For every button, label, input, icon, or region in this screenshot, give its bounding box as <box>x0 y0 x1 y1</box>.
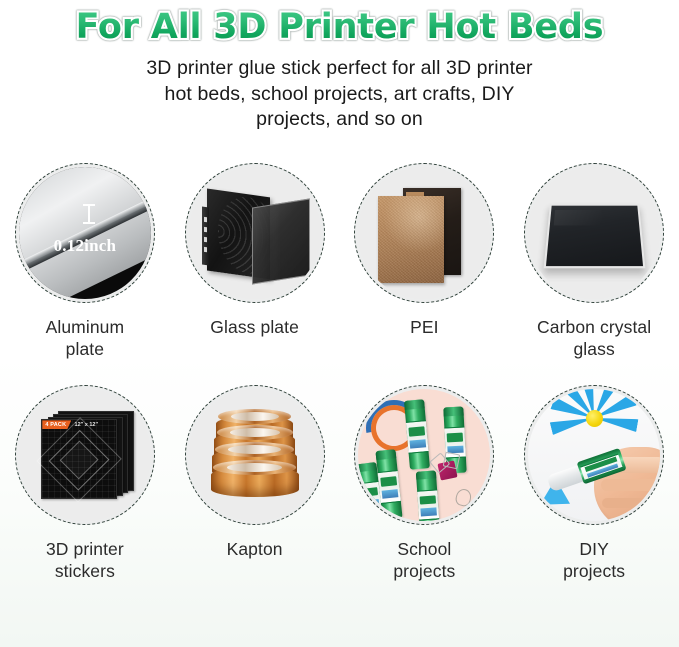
printer-stickers-photo: 4 PACK 12" x 12" <box>19 389 151 521</box>
thickness-callout-label: 0.12inch <box>54 236 117 256</box>
surface-label-kapton: Kapton <box>227 538 283 560</box>
label-line-1: Kapton <box>227 538 283 560</box>
surface-card-3d-printer-stickers: 4 PACK 12" x 12" 3D printer stickers <box>0 385 170 617</box>
aluminum-plate-circle: 0.12inch <box>15 163 155 303</box>
surface-label-3d-printer-stickers: 3D printer stickers <box>46 538 124 582</box>
kapton-circle <box>185 385 325 525</box>
sticker-size-label: 12" x 12" <box>75 422 99 428</box>
surface-label-pei: PEI <box>410 316 439 338</box>
diy-projects-photo <box>528 389 660 521</box>
label-line-1: DIY <box>563 538 625 560</box>
surface-label-carbon-crystal-glass: Carbon crystal glass <box>537 316 651 360</box>
label-line-2: plate <box>46 338 125 360</box>
surface-label-aluminum-plate: Aluminum plate <box>46 316 125 360</box>
subtitle-line-1: 3D printer glue stick perfect for all 3D… <box>60 56 620 82</box>
surfaces-row-1: 0.12inch Aluminum plate Glass plate <box>0 163 679 385</box>
subtitle-line-3: projects, and so on <box>60 107 620 133</box>
surface-card-kapton: Kapton <box>170 385 340 617</box>
diy-projects-circle <box>524 385 664 525</box>
page-subtitle: 3D printer glue stick perfect for all 3D… <box>60 56 620 133</box>
pei-copper-sheet-shape <box>378 196 444 283</box>
label-line-2: stickers <box>46 560 124 582</box>
printer-stickers-circle: 4 PACK 12" x 12" <box>15 385 155 525</box>
page-title: For All 3D Printer Hot Beds <box>76 4 604 50</box>
surface-card-diy-projects: DIY projects <box>509 385 679 617</box>
school-projects-photo <box>358 389 490 521</box>
carbon-crystal-glass-circle <box>524 163 664 303</box>
surface-label-glass-plate: Glass plate <box>210 316 299 338</box>
label-line-2: glass <box>537 338 651 360</box>
school-projects-circle <box>354 385 494 525</box>
kapton-tape-rolls-photo <box>189 389 321 521</box>
sun-center-shape <box>586 410 603 427</box>
label-line-2: projects <box>393 560 455 582</box>
surface-card-pei: PEI <box>340 163 510 385</box>
surface-card-carbon-crystal-glass: Carbon crystal glass <box>509 163 679 385</box>
carbon-crystal-glass-photo <box>528 167 660 299</box>
sticker-stack-shape: 4 PACK 12" x 12" <box>19 389 151 521</box>
glass-side-edge-shape <box>202 206 209 265</box>
glass-plate-photo <box>189 167 321 299</box>
label-line-1: PEI <box>410 316 439 338</box>
aluminum-plate-photo: 0.12inch <box>19 167 151 299</box>
surfaces-row-2: 4 PACK 12" x 12" 3D printer stickers <box>0 385 679 617</box>
thickness-measure-icon <box>88 204 90 224</box>
glass-plate-circle <box>185 163 325 303</box>
glue-stick-3 <box>416 470 440 521</box>
surface-card-aluminum-plate: 0.12inch Aluminum plate <box>0 163 170 385</box>
label-line-1: Glass plate <box>210 316 299 338</box>
subtitle-line-2: hot beds, school projects, art crafts, D… <box>60 82 620 108</box>
label-line-1: Aluminum <box>46 316 125 338</box>
carbon-crystal-plate-shape <box>543 204 645 268</box>
pei-sheet-photo <box>358 167 490 299</box>
kapton-roll-stack-shape <box>211 409 299 501</box>
pack-count-badge: 4 PACK <box>42 420 71 429</box>
surface-label-school-projects: School projects <box>393 538 455 582</box>
label-line-1: 3D printer <box>46 538 124 560</box>
aluminum-plate-illustration <box>19 167 151 299</box>
surface-card-glass-plate: Glass plate <box>170 163 340 385</box>
pei-circle <box>354 163 494 303</box>
sticker-sheet-1: 4 PACK 12" x 12" <box>41 419 116 498</box>
label-line-1: School <box>393 538 455 560</box>
surfaces-grid: 0.12inch Aluminum plate Glass plate <box>0 163 679 617</box>
binder-clip-shape <box>437 460 457 480</box>
header-section: For All 3D Printer Hot Beds For All 3D P… <box>0 0 679 133</box>
surface-card-school-projects: School projects <box>340 385 510 617</box>
title-wrapper: For All 3D Printer Hot Beds For All 3D P… <box>76 4 604 50</box>
label-line-1: Carbon crystal <box>537 316 651 338</box>
surface-label-diy-projects: DIY projects <box>563 538 625 582</box>
label-line-2: projects <box>563 560 625 582</box>
glass-front-panel-shape <box>252 198 310 284</box>
kapton-roll-1 <box>211 467 299 497</box>
